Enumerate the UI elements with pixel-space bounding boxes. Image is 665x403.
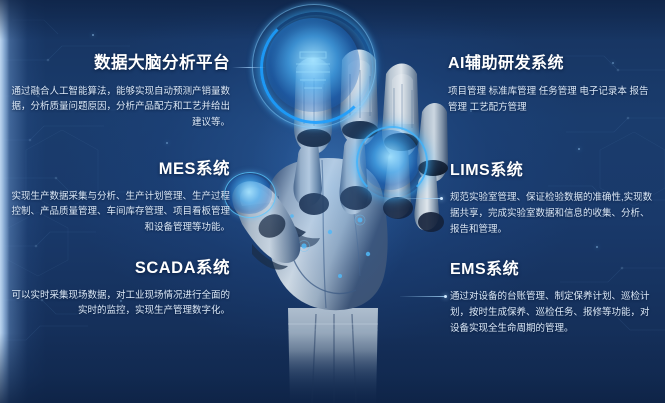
section-mes: MES系统 实现生产数据采集与分析、生产计划管理、生产过程控制、产品质量管理、车… [8,160,230,236]
section-body-ai-rd: 项目管理 标准库管理 任务管理 电子记录本 报告管理 工艺配方管理 [448,84,658,115]
section-heading-lims: LIMS系统 [450,161,658,180]
connector-dot-ems [444,295,447,298]
section-data-brain: 数据大脑分析平台 通过融合人工智能算法，能够实现自动预测产销量数据，分析质量问题… [8,54,230,131]
section-body-ems: 通过对设备的台账管理、制定保养计划、巡检计划，按时生成保养、巡检任务、报修等功能… [450,289,658,336]
section-body-lims: 规范实验室管理、保证检验数据的准确性,实现数据共享，完成实验室数据和信息的收集、… [450,190,658,237]
section-lims: LIMS系统 规范实验室管理、保证检验数据的准确性,实现数据共享，完成实验室数据… [450,161,658,237]
section-heading-ems: EMS系统 [450,260,658,279]
section-body-scada: 可以实时采集现场数据，对工业现场情况进行全面的实时的监控，实现生产管理数字化。 [8,288,230,319]
section-body-mes: 实现生产数据采集与分析、生产计划管理、生产过程控制、产品质量管理、车间库存管理、… [8,189,230,236]
heading-rule-data-brain [232,67,266,68]
particle-dot [596,246,598,248]
section-scada: SCADA系统 可以实时采集现场数据，对工业现场情况进行全面的实时的监控，实现生… [8,259,230,319]
section-heading-data-brain: 数据大脑分析平台 [8,54,230,74]
connector-line-ems [400,296,444,297]
particle-dot [578,148,580,150]
connector-line-lims [398,198,440,199]
section-ems: EMS系统 通过对设备的台账管理、制定保养计划、巡检计划，按时生成保养、巡检任务… [450,260,658,336]
infographic-canvas: 数据大脑分析平台 通过融合人工智能算法，能够实现自动预测产销量数据，分析质量问题… [0,0,665,403]
particle-dot [166,142,168,144]
section-body-data-brain: 通过融合人工智能算法，能够实现自动预测产销量数据，分析质量问题原因，分析产品配方… [8,84,230,131]
bottom-vignette [0,333,665,403]
connector-dot-lims [440,197,443,200]
section-ai-rd: AI辅助研发系统 项目管理 标准库管理 任务管理 电子记录本 报告管理 工艺配方… [448,54,658,116]
section-heading-scada: SCADA系统 [8,259,230,279]
section-heading-ai-rd: AI辅助研发系统 [448,54,658,73]
section-heading-mes: MES系统 [8,160,230,180]
particle-dot [92,34,94,36]
